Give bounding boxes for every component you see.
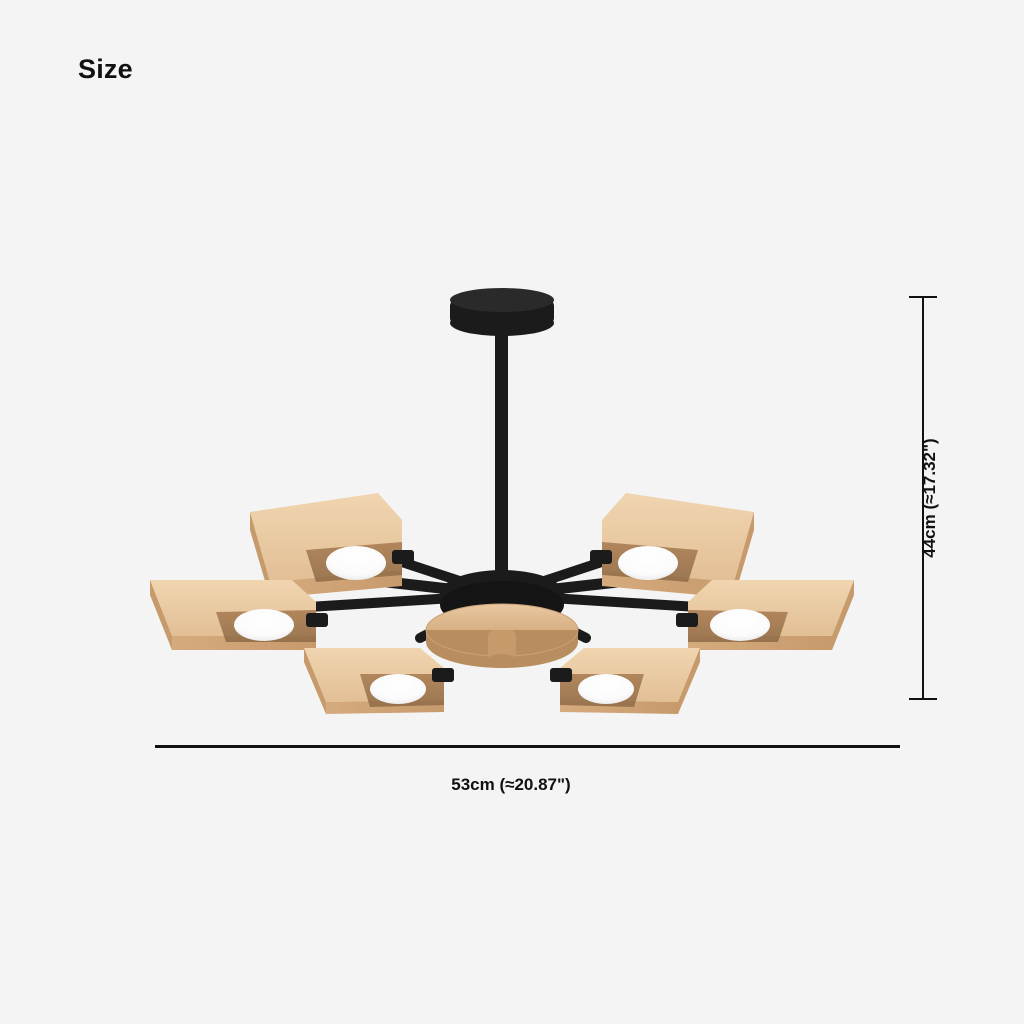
- width-dimension-line: [155, 745, 900, 748]
- lamp-shade-lower-left: [304, 648, 454, 714]
- width-dimension-label: 53cm (≈20.87"): [451, 775, 570, 795]
- height-dimension-cap-bottom: [909, 698, 937, 700]
- lamp-shade-mid-left: [150, 580, 328, 650]
- lamp-shade-mid-right: [676, 580, 854, 650]
- lamp-shade-lower-right: [550, 648, 700, 714]
- height-dimension-label: 44cm (≈17.32"): [920, 438, 940, 557]
- size-diagram-page: Size 44cm (≈17.32") 53cm (≈20.87"): [0, 0, 1024, 1024]
- page-title: Size: [78, 54, 133, 85]
- drop-rod: [495, 323, 508, 593]
- wood-hub-plate: [426, 604, 578, 668]
- product-illustration: [120, 250, 910, 720]
